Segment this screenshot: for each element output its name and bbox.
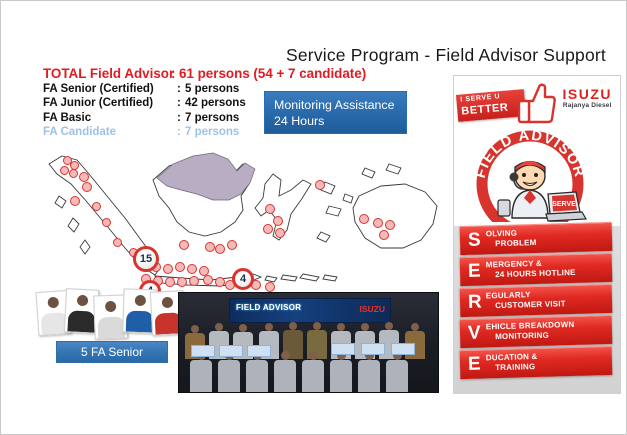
legend-label: FA Senior (Certified) xyxy=(43,82,177,97)
monitoring-line-1: Monitoring Assistance xyxy=(274,98,406,114)
person-head xyxy=(309,351,318,360)
person-head xyxy=(239,324,247,332)
map-marker-count-4-java-east: 4 xyxy=(232,268,254,290)
map-marker xyxy=(265,204,275,214)
portrait-head xyxy=(134,295,145,306)
person-body xyxy=(358,360,380,392)
certificate-plaque xyxy=(361,343,385,355)
person-head xyxy=(281,351,290,360)
legend-colon: : xyxy=(177,125,185,140)
serve-line-2: PROBLEM xyxy=(495,238,537,249)
page-title: Service Program - Field Advisor Support xyxy=(271,45,621,66)
isuzu-logo: ISUZU Rajanya Diesel xyxy=(563,86,613,109)
certificate-plaque xyxy=(331,343,355,355)
serve-acronym-list: S OLVING PROBLEM E MERGENCY & 24 HOURS H… xyxy=(454,224,620,384)
monitoring-line-2: 24 Hours xyxy=(274,114,406,130)
serve-letter: E xyxy=(468,353,481,377)
serve-line-2: CUSTOMER VISIT xyxy=(495,299,566,311)
map-marker xyxy=(203,275,213,285)
person-head xyxy=(385,322,393,330)
legend-colon: : xyxy=(177,82,185,97)
svg-text:SERVE: SERVE xyxy=(552,201,576,208)
slide-canvas: Service Program - Field Advisor Support … xyxy=(0,0,627,435)
banner-brand: ISUZU xyxy=(360,304,386,314)
serve-item-vehicle-breakdown-monitoring: V EHICLE BREAKDOWN MONITORING xyxy=(460,315,613,348)
map-marker xyxy=(265,282,275,292)
person-head xyxy=(289,322,297,330)
legend-label: FA Junior (Certified) xyxy=(43,96,177,111)
isuzu-tagline: Rajanya Diesel xyxy=(563,102,613,109)
person-head xyxy=(337,323,345,331)
legend-colon: : xyxy=(177,111,185,126)
map-marker xyxy=(215,244,225,254)
map-marker xyxy=(275,228,285,238)
brand-panel: I SERVE U BETTER ISUZU Rajanya Diesel FI… xyxy=(453,75,621,394)
map-marker xyxy=(177,277,187,287)
brand-panel-header: I SERVE U BETTER ISUZU Rajanya Diesel FI… xyxy=(454,76,620,226)
map-marker xyxy=(82,182,92,192)
person-body xyxy=(386,360,408,392)
map-marker xyxy=(79,172,89,182)
map-marker xyxy=(359,214,369,224)
map-marker xyxy=(113,238,122,247)
banner-title: FIELD ADVISOR xyxy=(236,303,301,312)
map-marker xyxy=(187,264,197,274)
certificate-plaque xyxy=(247,345,271,357)
legend-total-label: TOTAL Field Advisor xyxy=(43,67,171,82)
legend-value: 5 persons xyxy=(185,82,239,97)
portrait-body xyxy=(125,311,153,333)
legend-colon: : xyxy=(177,96,185,111)
map-marker xyxy=(92,202,101,211)
map-marker xyxy=(215,277,225,287)
portrait-head xyxy=(161,297,173,309)
legend-total-value: 61 persons (54 + 7 candidate) xyxy=(179,67,366,82)
fa-senior-count-label: 5 FA Senior xyxy=(56,341,168,363)
serve-letter: S xyxy=(468,229,481,253)
certificate-plaque xyxy=(191,345,215,357)
map-marker xyxy=(273,216,283,226)
map-marker xyxy=(189,276,199,286)
serve-letter: R xyxy=(468,291,482,315)
map-marker xyxy=(69,169,78,178)
portrait-head xyxy=(47,297,59,309)
map-marker xyxy=(179,240,189,250)
map-marker xyxy=(205,242,215,252)
serve-text: EGULARLY CUSTOMER VISIT xyxy=(486,289,566,310)
north-borneo-shading xyxy=(157,153,255,200)
indonesia-map: 15 4 4 xyxy=(29,144,449,304)
map-marker-count-15: 15 xyxy=(133,246,159,272)
certificate-plaque xyxy=(391,343,415,355)
map-marker xyxy=(60,166,69,175)
serve-letter: V xyxy=(468,322,481,346)
person-body xyxy=(302,360,324,392)
photo-banner: FIELD ADVISOR ISUZU xyxy=(229,298,391,323)
map-marker xyxy=(379,230,389,240)
ribbon-line-2: BETTER xyxy=(461,102,509,118)
serve-line-2: TRAINING xyxy=(495,362,538,373)
person-head xyxy=(191,325,199,333)
map-marker xyxy=(70,196,80,206)
serve-item-regularly-customer-visit: R EGULARLY CUSTOMER VISIT xyxy=(460,284,613,317)
person-body xyxy=(330,360,352,392)
map-marker xyxy=(315,180,325,190)
person-head xyxy=(411,323,419,331)
phone-icon xyxy=(498,200,510,216)
group-photo: FIELD ADVISOR ISUZU xyxy=(178,292,439,393)
thumbs-up-icon xyxy=(516,81,556,125)
portrait-body xyxy=(67,310,95,332)
map-marker xyxy=(227,240,237,250)
isuzu-wordmark: ISUZU xyxy=(563,86,613,102)
map-marker xyxy=(165,277,175,287)
legend-value: 7 persons xyxy=(185,111,239,126)
legend-row-total: TOTAL Field Advisor : 61 persons (54 + 7… xyxy=(43,67,366,82)
fa-senior-photo-strip xyxy=(37,289,187,337)
serve-letter: E xyxy=(468,260,481,284)
portrait-body xyxy=(97,317,125,339)
field-advisor-badge: FIELD ADVISOR SERVE xyxy=(468,122,592,222)
map-marker xyxy=(175,262,185,272)
serve-text: MERGENCY & 24 HOURS HOTLINE xyxy=(486,258,576,280)
map-marker xyxy=(263,224,273,234)
monitoring-assistance-box: Monitoring Assistance 24 Hours xyxy=(264,91,407,134)
certificate-plaque xyxy=(219,345,243,357)
legend-label: FA Candidate xyxy=(43,125,177,140)
serve-text: OLVING PROBLEM xyxy=(486,228,537,249)
map-marker xyxy=(163,264,173,274)
serve-text: DUCATION & TRAINING xyxy=(486,352,538,373)
map-marker xyxy=(373,218,383,228)
person-head xyxy=(215,323,223,331)
map-marker xyxy=(385,220,395,230)
person-body xyxy=(274,360,296,392)
legend-total-colon: : xyxy=(171,67,179,82)
serve-text: EHICLE BREAKDOWN MONITORING xyxy=(486,320,575,342)
person-head xyxy=(361,323,369,331)
person-head xyxy=(313,322,321,330)
portrait-head xyxy=(104,301,115,312)
serve-item-solving-problem: S OLVING PROBLEM xyxy=(460,222,613,255)
legend-label: FA Basic xyxy=(43,111,177,126)
map-marker xyxy=(102,218,111,227)
portrait-head xyxy=(76,295,88,307)
legend-value: 7 persons xyxy=(185,125,239,140)
person-head xyxy=(265,323,273,331)
serve-item-emergency-hotline: E MERGENCY & 24 HOURS HOTLINE xyxy=(460,253,613,286)
serve-item-education-training: E DUCATION & TRAINING xyxy=(460,346,613,379)
person-body xyxy=(246,360,268,392)
serve-line-2: 24 HOURS HOTLINE xyxy=(495,267,576,279)
serve-line-2: MONITORING xyxy=(495,330,575,342)
person-body xyxy=(218,360,240,392)
person-body xyxy=(190,360,212,392)
legend-value: 42 persons xyxy=(185,96,246,111)
